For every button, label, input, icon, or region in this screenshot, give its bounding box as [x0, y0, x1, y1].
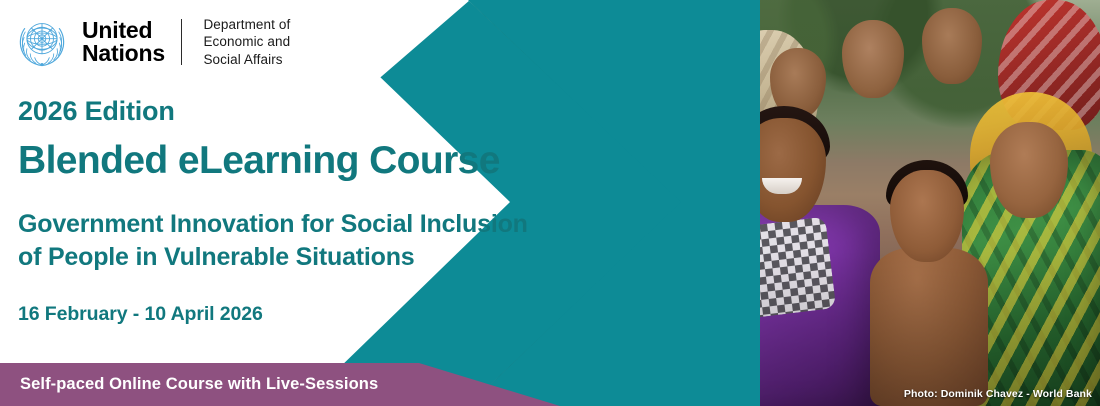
logo-divider [181, 19, 183, 65]
photo-boy-face [742, 118, 826, 222]
course-subtitle-line2: of People in Vulnerable Situations [18, 241, 528, 274]
un-wordmark-line1: United [82, 19, 165, 42]
un-emblem-icon [14, 14, 70, 70]
footer-label: Self-paced Online Course with Live-Sessi… [0, 375, 378, 394]
page-title: Blended eLearning Course [18, 141, 500, 182]
edition-label: 2026 Edition [18, 96, 175, 127]
photo-credit: Photo: Dominik Chavez - World Bank [904, 388, 1092, 400]
photo-person-sari-face [990, 122, 1068, 218]
department-name: Department of Economic and Social Affair… [203, 16, 290, 68]
course-subtitle: Government Innovation for Social Inclusi… [18, 208, 528, 274]
photo-bottom-shade [470, 250, 1100, 406]
department-line2: Economic and [203, 33, 290, 50]
course-banner: Self-paced Online Course with Live-Sessi… [0, 0, 1100, 406]
un-desa-logo: United Nations Department of Economic an… [14, 14, 290, 70]
course-dates: 16 February - 10 April 2026 [18, 303, 263, 326]
department-line1: Department of [203, 16, 290, 33]
photo-person-head-c [922, 8, 982, 84]
photo-person-blue-face [622, 134, 690, 218]
un-wordmark-line2: Nations [82, 42, 165, 65]
banner-photo [470, 0, 1100, 406]
course-subtitle-line1: Government Innovation for Social Inclusi… [18, 208, 528, 241]
department-line3: Social Affairs [203, 51, 290, 68]
un-wordmark: United Nations [82, 19, 165, 66]
photo-person-head-b [842, 20, 904, 98]
